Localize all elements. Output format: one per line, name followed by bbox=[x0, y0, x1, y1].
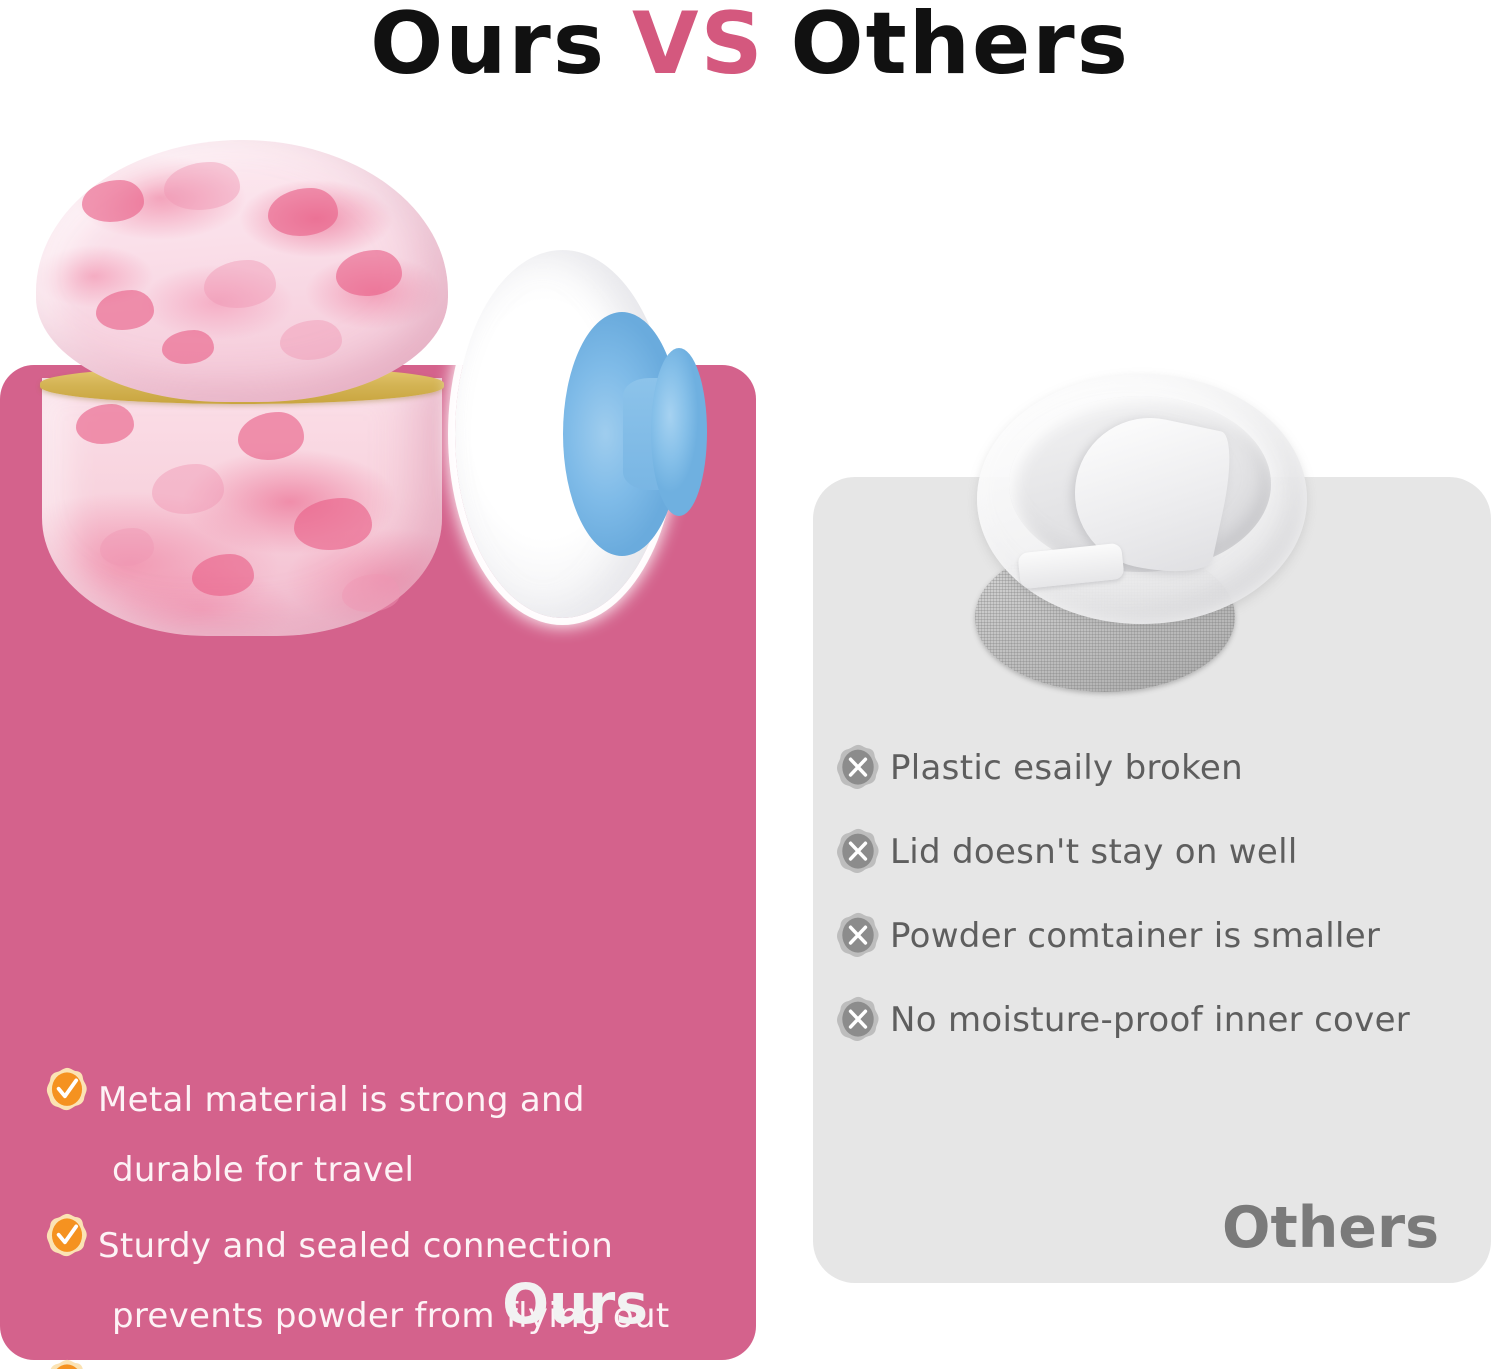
cross-badge-icon bbox=[836, 828, 880, 876]
list-item: Lid doesn't stay on well bbox=[836, 828, 1476, 876]
powder-puff-image bbox=[455, 250, 705, 620]
sakura-petal bbox=[164, 162, 240, 210]
list-item: Powder comtainer is smaller bbox=[836, 912, 1476, 960]
sakura-petal bbox=[76, 404, 134, 444]
cross-badge-icon bbox=[836, 996, 880, 1044]
list-item-label: Plastic esaily broken bbox=[890, 744, 1243, 792]
sakura-petal bbox=[100, 528, 154, 566]
comparison-infographic: OursVSOthers Metal material is strong an… bbox=[0, 0, 1500, 1369]
list-item-label: Metal material is strong and durable for… bbox=[98, 1065, 585, 1205]
sakura-petal bbox=[336, 250, 402, 296]
sakura-petal bbox=[82, 180, 144, 222]
others-feature-list: Plastic esaily broken Lid doesn't stay o… bbox=[836, 744, 1476, 1080]
feature-line-1: Metal material is strong and bbox=[98, 1080, 585, 1120]
list-item-label: No moisture-proof inner cover bbox=[890, 996, 1410, 1044]
feature-line-1: Plastic esaily broken bbox=[890, 748, 1243, 788]
ours-product-image bbox=[30, 130, 490, 640]
jar-body bbox=[42, 378, 442, 636]
jar-lid bbox=[36, 140, 448, 402]
sakura-petal bbox=[152, 464, 224, 514]
cross-badge-icon bbox=[836, 744, 880, 792]
sakura-petal bbox=[96, 290, 154, 330]
check-badge-icon bbox=[46, 1067, 88, 1113]
feature-line-2: durable for travel bbox=[98, 1135, 585, 1205]
sakura-petal bbox=[342, 574, 400, 612]
sakura-petal bbox=[268, 188, 338, 236]
sakura-petal bbox=[192, 554, 254, 596]
sakura-petal bbox=[204, 260, 276, 308]
cross-badge-icon bbox=[836, 912, 880, 960]
feature-line-1: Lid doesn't stay on well bbox=[890, 832, 1298, 872]
sakura-petal bbox=[162, 330, 214, 364]
sakura-petal bbox=[238, 412, 304, 460]
check-badge-icon bbox=[46, 1359, 88, 1369]
page-title: OursVSOthers bbox=[0, 0, 1500, 92]
title-ours: Ours bbox=[370, 0, 606, 94]
sakura-petal bbox=[280, 320, 342, 360]
puff-knob bbox=[651, 348, 707, 516]
list-item: No moisture-proof inner cover bbox=[836, 996, 1476, 1044]
feature-line-1: Sturdy and sealed connection bbox=[98, 1226, 613, 1266]
feature-line-1: No moisture-proof inner cover bbox=[890, 1000, 1410, 1040]
check-badge-icon bbox=[46, 1213, 88, 1259]
list-item-label: Lid doesn't stay on well bbox=[890, 828, 1298, 876]
list-item: Metal material is strong and durable for… bbox=[46, 1065, 726, 1205]
others-brand-tag: Others bbox=[1222, 1195, 1439, 1261]
list-item: Plastic esaily broken bbox=[836, 744, 1476, 792]
title-vs: VS bbox=[632, 0, 765, 94]
title-others: Others bbox=[791, 0, 1130, 94]
ours-brand-tag: Ours bbox=[502, 1272, 648, 1336]
feature-line-1: Powder comtainer is smaller bbox=[890, 916, 1380, 956]
others-product-image bbox=[955, 370, 1335, 700]
sakura-petal bbox=[294, 498, 372, 550]
list-item-label: Powder comtainer is smaller bbox=[890, 912, 1380, 960]
list-item-label: Large container but lightweight design f… bbox=[98, 1357, 643, 1369]
list-item: Large container but lightweight design f… bbox=[46, 1357, 726, 1369]
